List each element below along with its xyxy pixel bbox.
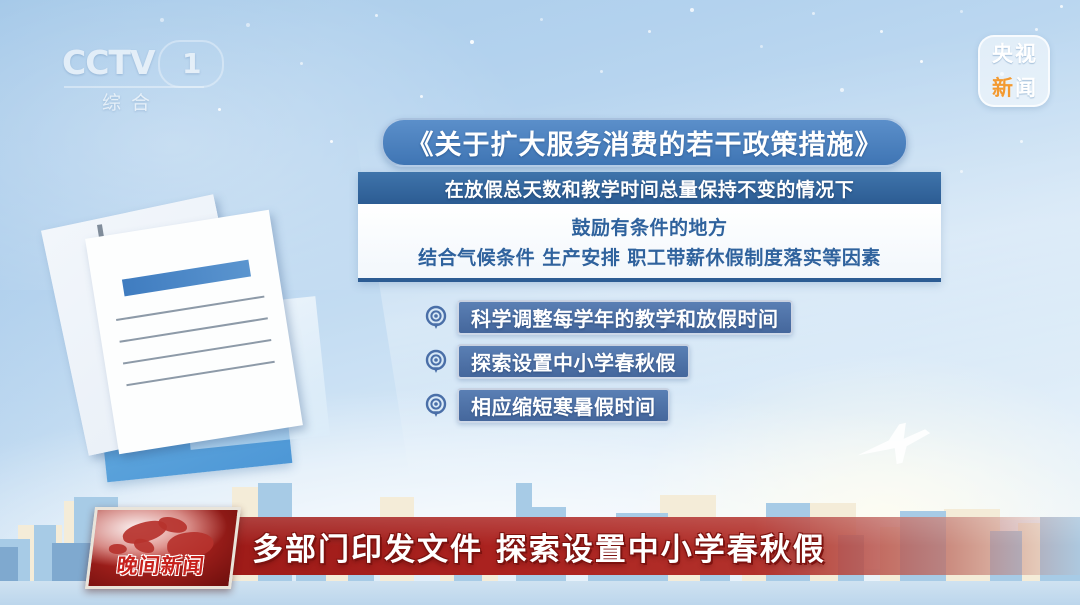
paper-text-line bbox=[116, 296, 264, 321]
policy-title-pill: 《关于扩大服务消费的若干政策措施》 bbox=[381, 118, 908, 167]
headline-text: 多部门印发文件 探索设置中小学春秋假 bbox=[252, 524, 826, 569]
news-logo-row-top: 央 视 bbox=[980, 37, 1048, 71]
news-logo-char-yang: 央 bbox=[992, 44, 1013, 65]
cctv-wordmark: CCTV bbox=[62, 46, 155, 79]
paper-text-line bbox=[119, 317, 267, 342]
paper-header-bar bbox=[122, 260, 251, 297]
program-name-text: 晚间新闻 bbox=[89, 550, 233, 580]
measure-pill: 探索设置中小学春秋假 bbox=[457, 344, 690, 379]
list-item: 科学调整每学年的教学和放假时间 bbox=[424, 300, 793, 335]
target-pin-icon bbox=[424, 305, 448, 331]
news-logo-char-xin: 新 bbox=[992, 78, 1013, 99]
news-logo-char-shi: 视 bbox=[1015, 44, 1036, 65]
program-logo-box: 晚间新闻 bbox=[85, 507, 241, 589]
measure-pill: 相应缩短寒暑假时间 bbox=[457, 388, 670, 423]
target-pin-icon bbox=[424, 393, 448, 419]
paper-text-line bbox=[126, 361, 274, 386]
lower-third: 多部门印发文件 探索设置中小学春秋假 晚间新闻 bbox=[0, 507, 1080, 585]
channel-number: 1 bbox=[182, 47, 201, 80]
news-logo-row-bottom: 新 闻 bbox=[980, 71, 1048, 105]
panel-line-2: 结合气候条件 生产安排 职工带薪休假制度落实等因素 bbox=[418, 243, 881, 270]
measure-pill: 科学调整每学年的教学和放假时间 bbox=[457, 300, 793, 335]
broadcast-screen: CCTV 1 综合 央 视 新 闻 bbox=[0, 0, 1080, 605]
panel-body: 鼓励有条件的地方 结合气候条件 生产安排 职工带薪休假制度落实等因素 bbox=[358, 204, 941, 282]
paper-sheet-front bbox=[85, 210, 303, 454]
measure-text: 科学调整每学年的教学和放假时间 bbox=[471, 303, 779, 332]
target-pin-icon bbox=[424, 349, 448, 375]
measure-bullet-list: 科学调整每学年的教学和放假时间 探索设置中小学春秋假 相应缩短寒暑假 bbox=[424, 300, 793, 423]
list-item: 相应缩短寒暑假时间 bbox=[424, 388, 793, 423]
cctv-news-logo: 央 视 新 闻 bbox=[978, 35, 1050, 107]
headline-banner: 多部门印发文件 探索设置中小学春秋假 bbox=[222, 517, 1080, 575]
list-item: 探索设置中小学春秋假 bbox=[424, 344, 793, 379]
condition-info-panel: 在放假总天数和教学时间总量保持不变的情况下 鼓励有条件的地方 结合气候条件 生产… bbox=[358, 172, 941, 282]
panel-header-text: 在放假总天数和教学时间总量保持不变的情况下 bbox=[445, 175, 855, 202]
news-logo-char-wen: 闻 bbox=[1015, 78, 1036, 99]
measure-text: 探索设置中小学春秋假 bbox=[471, 347, 676, 376]
panel-header-band: 在放假总天数和教学时间总量保持不变的情况下 bbox=[358, 172, 941, 204]
policy-title-text: 《关于扩大服务消费的若干政策措施》 bbox=[407, 123, 883, 162]
measure-text: 相应缩短寒暑假时间 bbox=[471, 391, 656, 420]
panel-line-1: 鼓励有条件的地方 bbox=[571, 213, 727, 240]
channel-subtitle: 综合 bbox=[102, 88, 160, 115]
cctv-channel-logo: CCTV 1 综合 bbox=[62, 40, 222, 110]
paper-text-line bbox=[123, 339, 271, 364]
